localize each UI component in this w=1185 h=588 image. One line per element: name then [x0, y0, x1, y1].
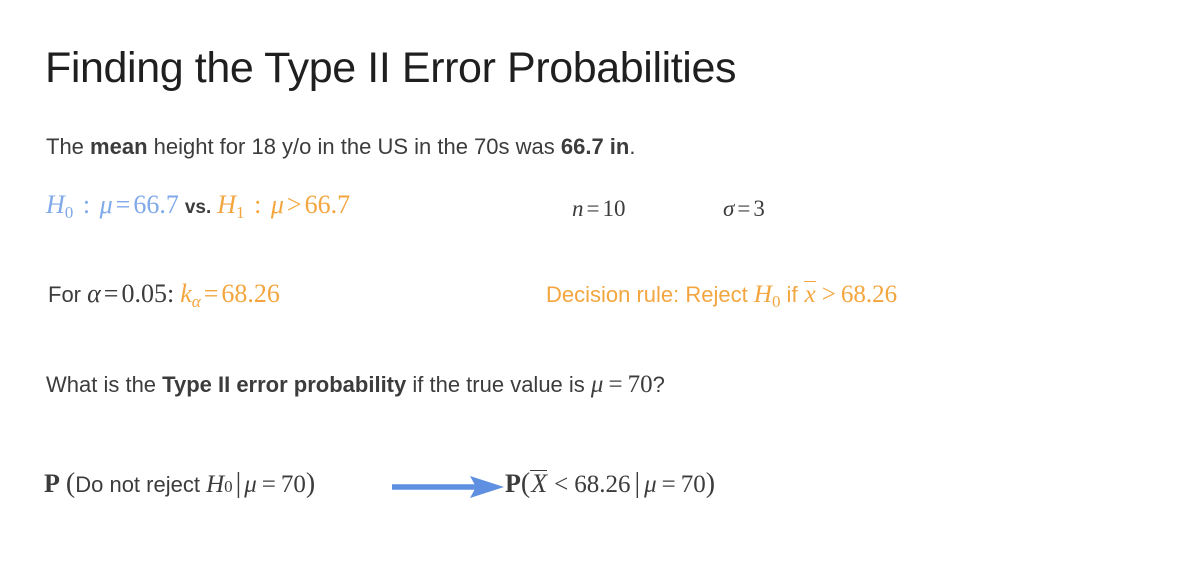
alt-value: 66.7	[305, 190, 351, 219]
prob-right-close-paren: )	[706, 468, 715, 499]
prob-right-given-bar: |	[630, 468, 644, 499]
decision-relation: >	[817, 281, 841, 308]
null-relation: =	[113, 190, 134, 219]
k-symbol: k	[180, 279, 192, 308]
alt-h-symbol: H	[217, 190, 236, 219]
prob-left-value: 70	[281, 471, 306, 498]
sigma-relation: =	[734, 196, 753, 221]
context-sentence: The mean height for 18 y/o in the US in …	[46, 136, 635, 158]
sigma-symbol: σ	[723, 196, 734, 221]
prob-right-p: P	[505, 469, 521, 498]
context-bold-value: 66.7 in	[561, 134, 629, 159]
prob-right-xbar-icon: X	[530, 471, 548, 497]
prob-left-h-symbol: H	[206, 471, 224, 498]
page-title: Finding the Type II Error Probabilities	[45, 44, 736, 93]
alt-h-subscript: 1	[236, 203, 245, 222]
prob-right-eq: =	[657, 471, 681, 498]
sigma-value: 3	[753, 196, 765, 221]
prob-left-open-paren: (	[66, 468, 75, 499]
alpha-symbol: α	[87, 279, 101, 308]
sample-size-parameter: n=10	[572, 197, 625, 220]
null-value: 66.7	[133, 190, 179, 219]
n-symbol: n	[572, 196, 584, 221]
decision-lead: Decision rule: Reject	[546, 282, 754, 307]
prob-right-mu: μ	[644, 471, 657, 498]
implies-arrow-icon	[392, 474, 504, 500]
probability-right-expression: P(X<68.26|μ=70)	[505, 470, 715, 498]
n-value: 10	[602, 196, 625, 221]
null-hypothesis: H0 : μ=66.7	[46, 190, 179, 219]
prob-left-close-paren: )	[306, 468, 315, 499]
question-bold: Type II error probability	[162, 372, 406, 397]
probability-left-expression: P(Do not reject H0|μ=70)	[44, 470, 315, 498]
alpha-lead: For	[48, 282, 87, 307]
prob-left-p: P	[44, 469, 60, 498]
alt-colon: :	[245, 190, 271, 219]
context-part3: .	[629, 134, 635, 159]
prob-left-relation: =	[257, 471, 281, 498]
null-colon: :	[73, 190, 99, 219]
k-subscript: α	[192, 292, 201, 311]
decision-threshold: 68.26	[841, 281, 897, 308]
decision-xbar-icon: x	[804, 282, 817, 307]
alt-relation: >	[284, 190, 305, 219]
decision-connector: if	[780, 282, 803, 307]
k-relation: =	[201, 279, 222, 308]
alpha-colon: :	[167, 279, 174, 308]
question-value: 70	[628, 371, 653, 398]
k-alpha-expression: kα=68.26	[180, 279, 280, 308]
context-bold-mean: mean	[90, 134, 147, 159]
question-qmark: ?	[653, 372, 665, 397]
k-value: 68.26	[221, 279, 280, 308]
question-mu: μ	[591, 371, 604, 398]
alpha-value: 0.05	[121, 279, 167, 308]
critical-value-statement: For α=0.05:kα=68.26	[48, 281, 280, 310]
question-relation: =	[603, 371, 627, 398]
prob-right-threshold: 68.26	[574, 471, 630, 498]
prob-right-relation: <	[548, 471, 574, 498]
alt-mu: μ	[271, 190, 284, 219]
alpha-relation: =	[101, 279, 122, 308]
prob-right-value: 70	[681, 471, 706, 498]
null-mu: μ	[100, 190, 113, 219]
question-part1: What is the	[46, 372, 162, 397]
question-part2: if the true value is	[406, 372, 591, 397]
prob-left-given-bar: |	[233, 468, 245, 499]
prob-left-mu: μ	[244, 471, 257, 498]
context-part2: height for 18 y/o in the US in the 70s w…	[148, 134, 561, 159]
slide-canvas: Finding the Type II Error Probabilities …	[0, 0, 1185, 588]
versus-label: vs.	[179, 197, 217, 218]
hypotheses-statement: H0 : μ=66.7vs.H1 : μ>66.7	[46, 192, 350, 221]
prob-left-text: Do not reject	[75, 472, 206, 497]
prob-right-open-paren: (	[521, 468, 530, 499]
context-part1: The	[46, 134, 90, 159]
n-relation: =	[584, 196, 603, 221]
null-h-symbol: H	[46, 190, 65, 219]
decision-h-symbol: H	[754, 281, 772, 308]
sigma-parameter: σ=3	[723, 197, 765, 220]
decision-rule: Decision rule: Reject H0 if x>68.26	[546, 282, 897, 310]
prob-left-h-subscript: 0	[224, 477, 233, 496]
question-sentence: What is the Type II error probability if…	[46, 372, 665, 397]
alternative-hypothesis: H1 : μ>66.7	[217, 190, 350, 219]
